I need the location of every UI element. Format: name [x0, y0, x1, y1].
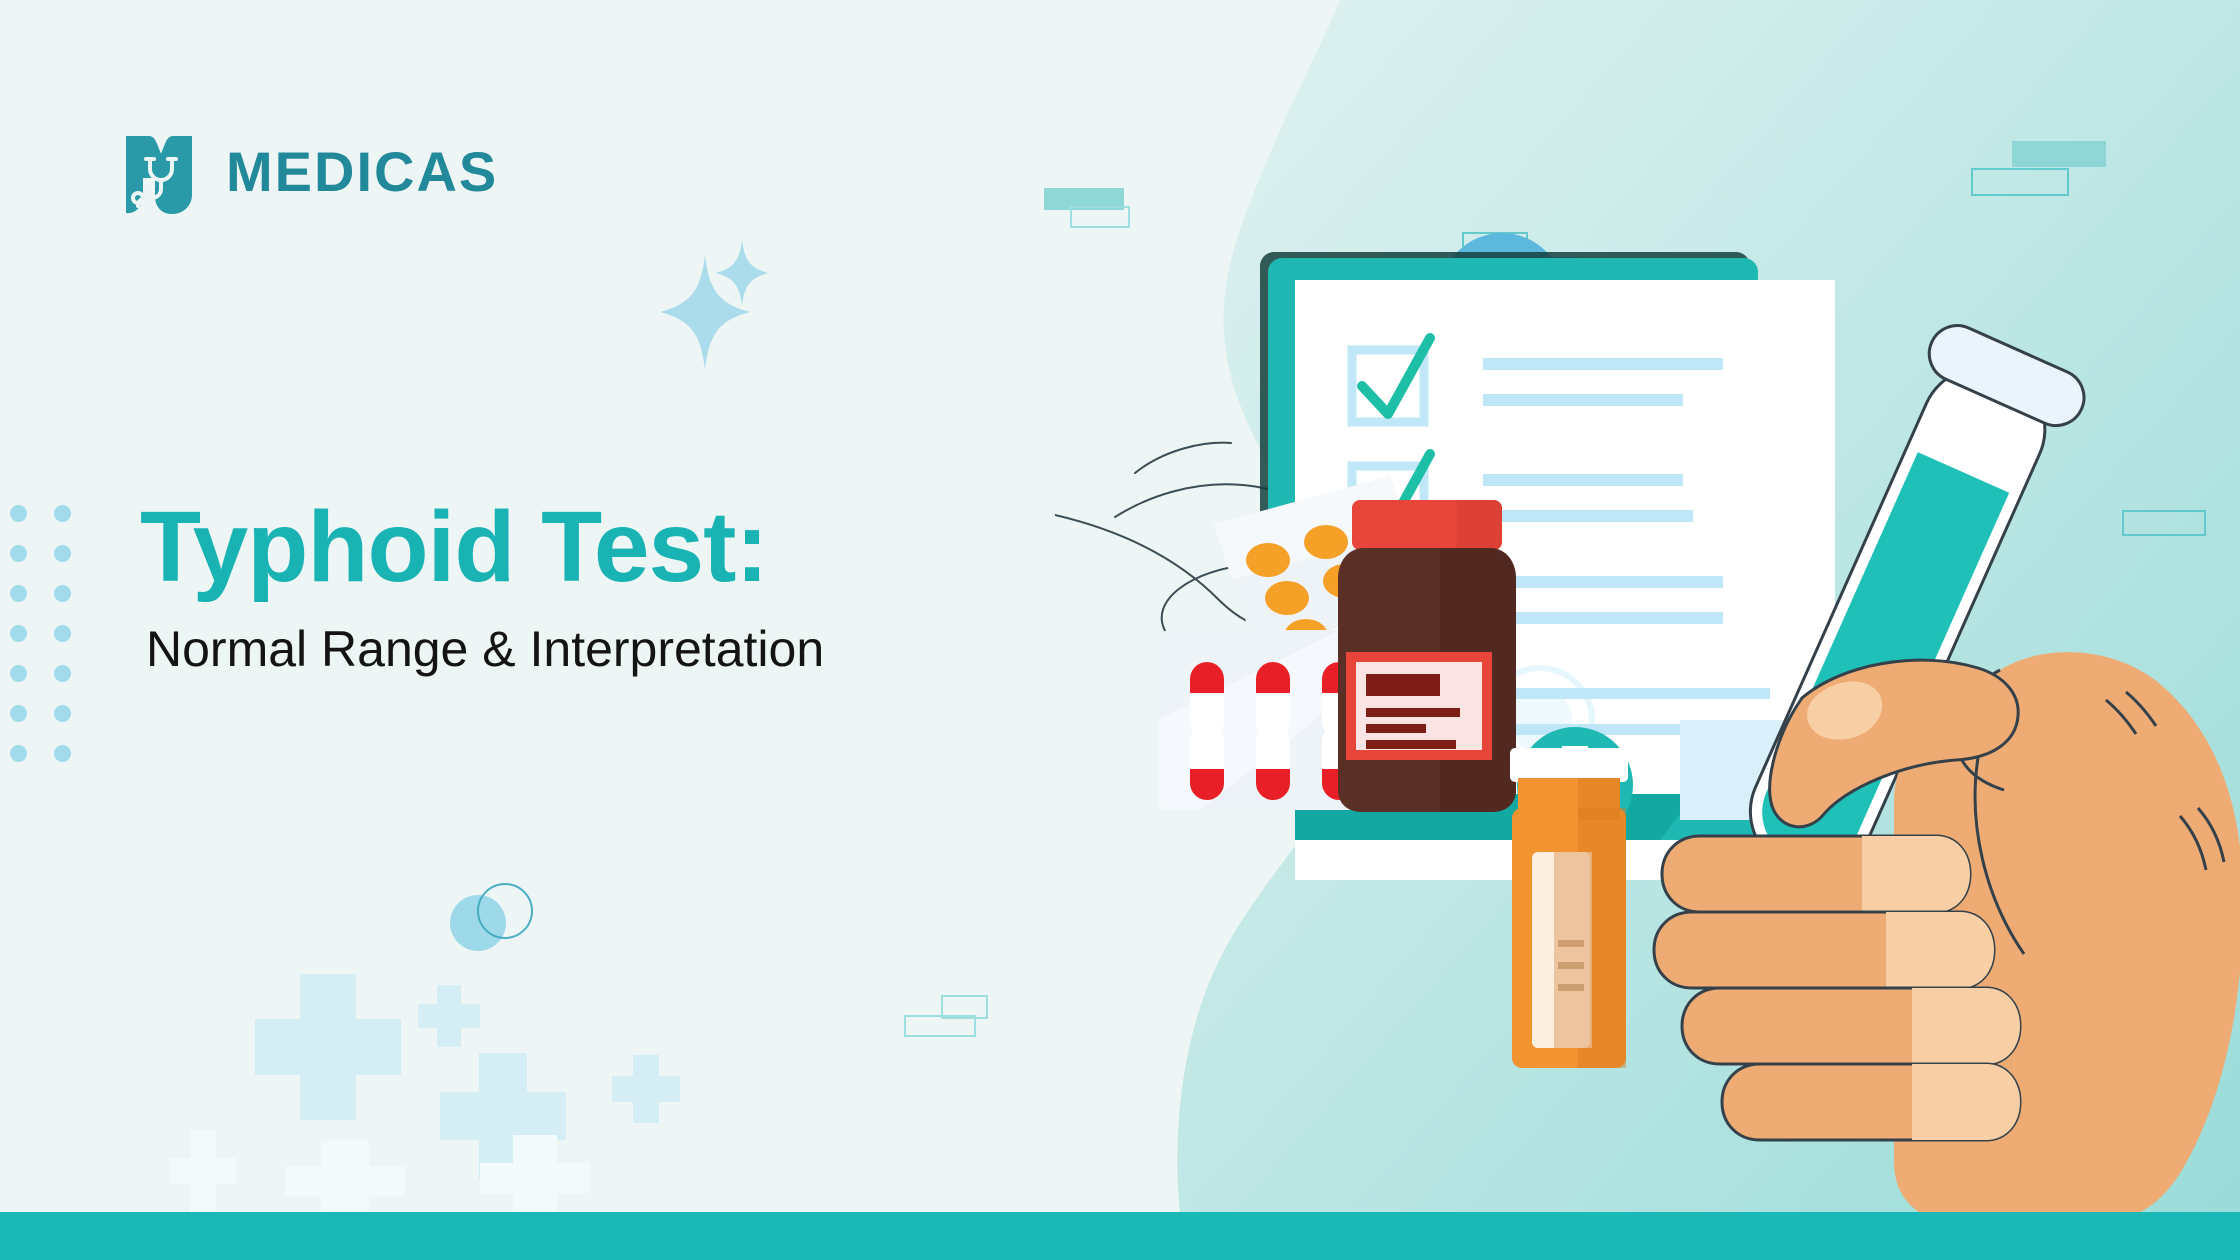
outline-circle-icon — [477, 883, 533, 939]
stethoscope-m-logo-icon — [122, 128, 200, 216]
page-title: Typhoid Test: — [140, 495, 824, 600]
medical-cross-icon — [418, 985, 480, 1047]
medical-cross-icon — [285, 1140, 405, 1220]
page-subtitle: Normal Range & Interpretation — [146, 622, 824, 677]
medicine-bottle-icon — [1338, 500, 1516, 812]
pill-bottle-icon — [1510, 748, 1628, 1068]
banner-stage: MEDICAS Typhoid Test: Normal Range & Int… — [0, 0, 2240, 1260]
bottom-accent-bar — [0, 1212, 2240, 1260]
dot-grid-icon — [10, 505, 98, 785]
medical-cross-icon — [170, 1130, 236, 1222]
brand-name: MEDICAS — [226, 144, 498, 200]
medical-cross-icon — [612, 1055, 680, 1123]
medical-cross-icon — [255, 974, 401, 1120]
sparkle-icon — [716, 240, 768, 306]
medical-cross-icon — [480, 1135, 590, 1220]
headline-block: Typhoid Test: Normal Range & Interpretat… — [140, 495, 824, 677]
medical-illustration — [1140, 200, 2240, 1220]
brand-logo[interactable]: MEDICAS — [122, 128, 498, 216]
